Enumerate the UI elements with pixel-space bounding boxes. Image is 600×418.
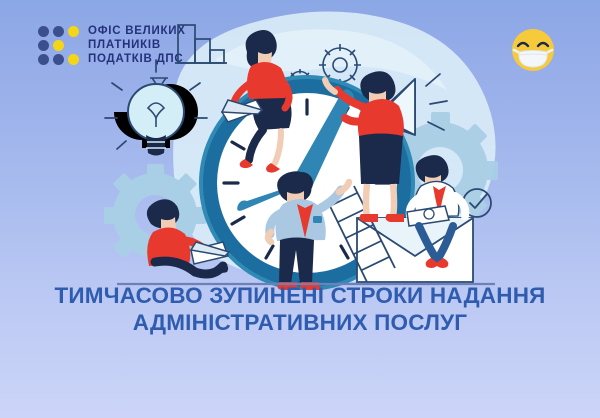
logo-dot (38, 54, 49, 65)
headline-line-1: ТИМЧАСОВО ЗУПИНЕНІ СТРОКИ НАДАННЯ (0, 282, 600, 309)
logo-dot (38, 40, 49, 51)
logo-dot (53, 26, 64, 37)
headline-line-2: АДМІНІСТРАТИВНИХ ПОСЛУГ (0, 309, 600, 336)
logo-dot (68, 54, 79, 65)
banner-headline: ТИМЧАСОВО ЗУПИНЕНІ СТРОКИ НАДАННЯ АДМІНІ… (0, 282, 600, 336)
logo-dot (53, 40, 64, 51)
logo-dot (68, 26, 79, 37)
logo-dot-empty (68, 40, 79, 51)
logo-dot-grid (38, 26, 79, 65)
clock-illustration (95, 0, 525, 290)
promo-banner: ОФІС ВЕЛИКИХ ПЛАТНИКІВ ПОДАТКІВ ДПС (0, 0, 600, 418)
logo-dot (53, 54, 64, 65)
logo-dot (38, 26, 49, 37)
